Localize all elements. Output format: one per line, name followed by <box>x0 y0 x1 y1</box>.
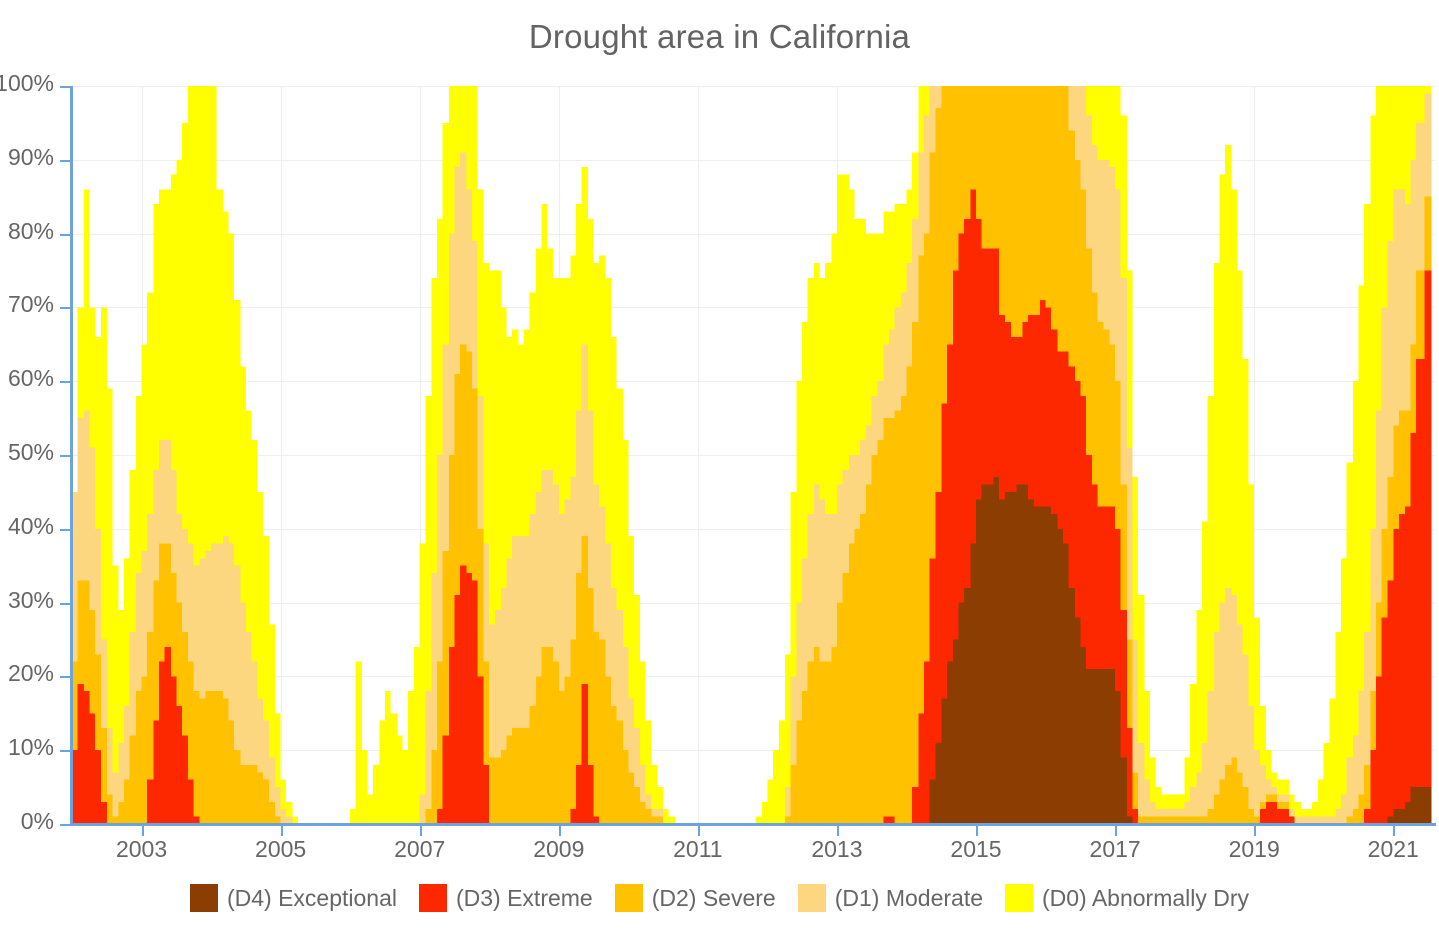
legend-item-d2-severe[interactable]: (D2) Severe <box>615 884 776 912</box>
legend-item-d0-abnormally-dry[interactable]: (D0) Abnormally Dry <box>1005 884 1249 912</box>
x-tick-label: 2017 <box>1090 836 1141 863</box>
y-tick-mark <box>60 86 71 88</box>
y-tick-mark <box>60 529 71 531</box>
legend-swatch-icon <box>1005 884 1033 912</box>
chart-legend: (D4) Exceptional(D3) Extreme(D2) Severe(… <box>0 884 1439 912</box>
stacked-area-series <box>72 86 1435 824</box>
legend-item-d1-moderate[interactable]: (D1) Moderate <box>798 884 983 912</box>
legend-swatch-icon <box>798 884 826 912</box>
legend-swatch-icon <box>419 884 447 912</box>
legend-item-d3-extreme[interactable]: (D3) Extreme <box>419 884 593 912</box>
chart-container: Drought area in California 0%10%20%30%40… <box>0 0 1439 929</box>
y-tick-mark <box>60 603 71 605</box>
legend-label: (D2) Severe <box>652 885 776 912</box>
y-tick-label: 60% <box>8 365 54 392</box>
x-axis-line <box>70 823 1436 826</box>
x-tick-mark <box>698 826 700 836</box>
legend-label: (D0) Abnormally Dry <box>1042 885 1249 912</box>
x-tick-mark <box>837 826 839 836</box>
y-tick-label: 0% <box>21 808 54 835</box>
y-tick-label: 10% <box>8 734 54 761</box>
x-tick-label: 2005 <box>255 836 306 863</box>
x-tick-label: 2013 <box>811 836 862 863</box>
x-tick-mark <box>142 826 144 836</box>
x-tick-label: 2019 <box>1229 836 1280 863</box>
y-tick-label: 20% <box>8 660 54 687</box>
y-tick-label: 90% <box>8 144 54 171</box>
chart-title: Drought area in California <box>0 18 1439 56</box>
x-tick-mark <box>420 826 422 836</box>
x-tick-mark <box>1115 826 1117 836</box>
x-tick-label: 2007 <box>394 836 445 863</box>
y-tick-mark <box>60 160 71 162</box>
x-tick-mark <box>559 826 561 836</box>
y-tick-mark <box>60 824 71 826</box>
legend-label: (D3) Extreme <box>456 885 593 912</box>
y-tick-mark <box>60 234 71 236</box>
y-tick-label: 30% <box>8 587 54 614</box>
y-tick-mark <box>60 381 71 383</box>
x-tick-label: 2009 <box>533 836 584 863</box>
x-tick-mark <box>1393 826 1395 836</box>
y-tick-mark <box>60 307 71 309</box>
y-tick-mark <box>60 676 71 678</box>
plot-area <box>72 86 1435 824</box>
x-tick-mark <box>976 826 978 836</box>
x-tick-label: 2021 <box>1368 836 1419 863</box>
x-tick-label: 2011 <box>673 836 722 863</box>
y-tick-label: 100% <box>0 70 54 97</box>
legend-label: (D1) Moderate <box>835 885 983 912</box>
y-tick-label: 70% <box>8 291 54 318</box>
x-tick-mark <box>281 826 283 836</box>
y-tick-label: 40% <box>8 513 54 540</box>
y-tick-mark <box>60 750 71 752</box>
x-tick-label: 2015 <box>950 836 1001 863</box>
y-tick-label: 50% <box>8 439 54 466</box>
x-tick-label: 2003 <box>116 836 167 863</box>
y-tick-label: 80% <box>8 218 54 245</box>
legend-swatch-icon <box>190 884 218 912</box>
legend-item-d4-exceptional[interactable]: (D4) Exceptional <box>190 884 397 912</box>
y-tick-mark <box>60 455 71 457</box>
x-tick-mark <box>1254 826 1256 836</box>
legend-swatch-icon <box>615 884 643 912</box>
legend-label: (D4) Exceptional <box>227 885 397 912</box>
